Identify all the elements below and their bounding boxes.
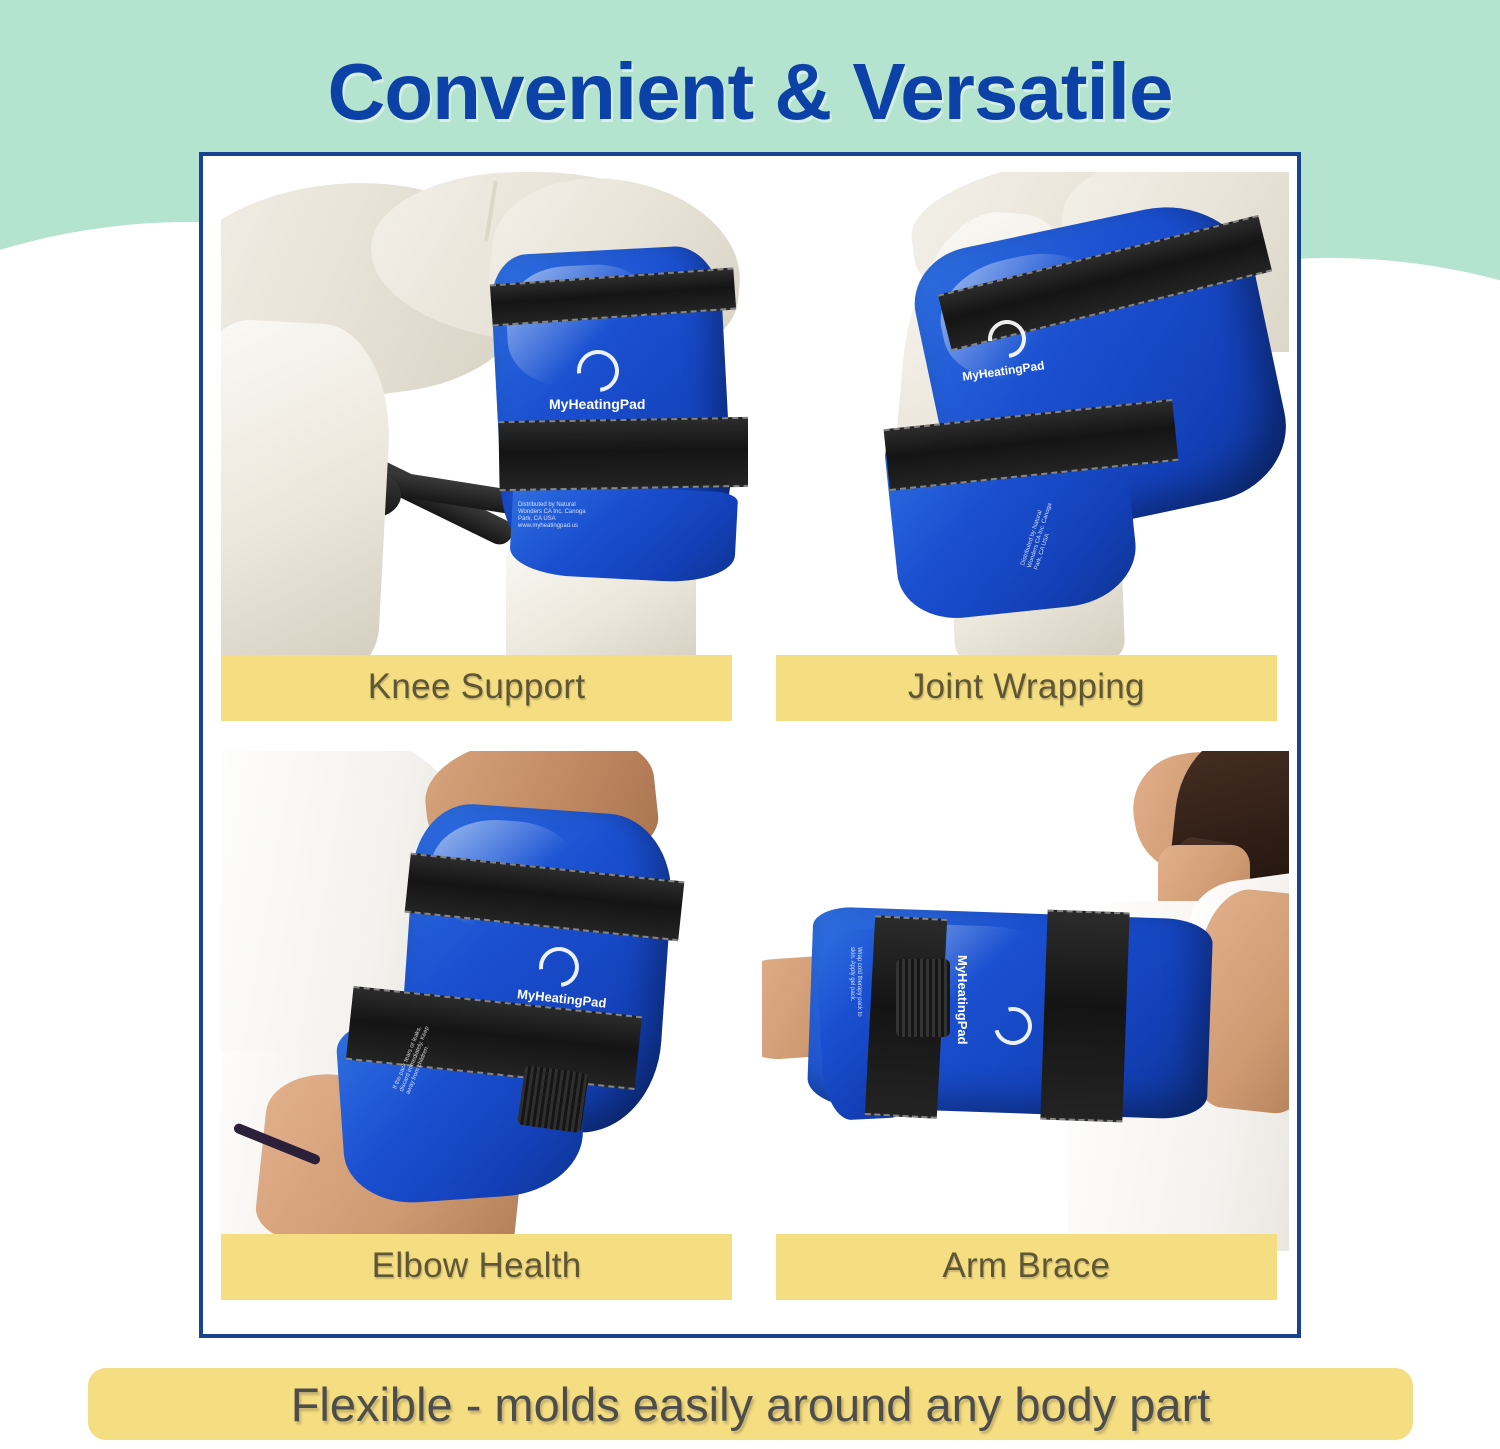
strap-pull-tab <box>517 1065 589 1133</box>
velcro-strap-bottom <box>498 417 748 491</box>
panel-arm-brace: MyHeatingPad Wrap cold therapy pack to s… <box>762 751 1289 1322</box>
footer-banner-text: Flexible - molds easily around any body … <box>291 1377 1211 1432</box>
gel-pack-skirt <box>509 481 739 585</box>
brand-name: MyHeatingPad <box>955 955 970 1045</box>
package-microtext: Wrap cold therapy pack to skin. Apply ge… <box>848 947 862 1019</box>
package-microtext: Distributed by Natural Wonders CA Inc. C… <box>518 502 586 530</box>
panel-elbow-health: MyHeatingPad If the pack tears or leaks,… <box>221 751 748 1322</box>
strap-pull-tab <box>896 959 950 1037</box>
caption-knee-support: Knee Support <box>221 655 732 721</box>
page-title: Convenient & Versatile <box>0 46 1500 138</box>
caption-elbow-health: Elbow Health <box>221 1234 732 1300</box>
feature-grid-frame: MyHeatingPad Distributed by Natural Wond… <box>199 152 1301 1338</box>
brand-name: MyHeatingPad <box>549 396 645 412</box>
feature-grid: MyHeatingPad Distributed by Natural Wond… <box>203 156 1297 1334</box>
caption-arm-brace: Arm Brace <box>776 1234 1277 1300</box>
shin-pants <box>221 317 395 667</box>
caption-joint-wrapping: Joint Wrapping <box>776 655 1277 721</box>
panel-joint-wrapping: MyHeatingPad Distributed by Natural Wond… <box>762 172 1289 743</box>
velcro-strap-elbow <box>1040 910 1129 1123</box>
footer-banner: Flexible - molds easily around any body … <box>88 1368 1413 1440</box>
panel-knee-support: MyHeatingPad Distributed by Natural Wond… <box>221 172 748 743</box>
